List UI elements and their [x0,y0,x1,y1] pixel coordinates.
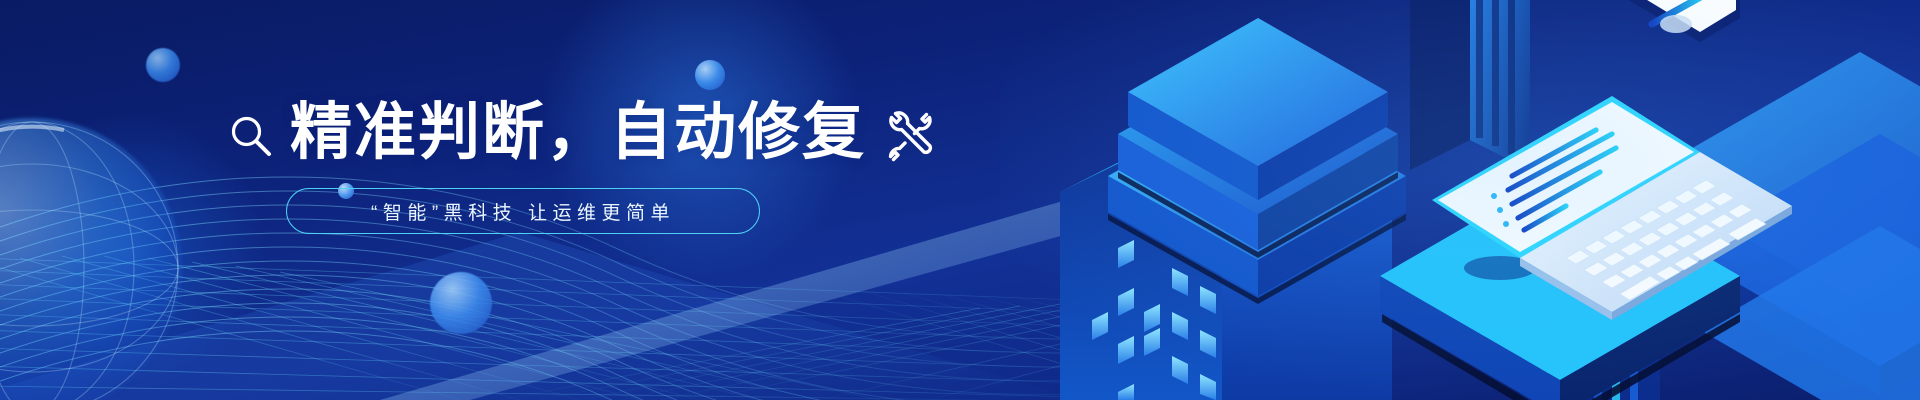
subtitle-pill: “智能”黑科技 让运维更简单 [286,188,760,234]
hero-banner: 精准判断，自动修复 “智能”黑科技 让运维更简单 [0,0,1920,400]
banner-copy: 精准判断，自动修复 “智能”黑科技 让运维更简单 [228,96,868,234]
globe-wireframe-rings [0,118,182,400]
headline-row: 精准判断，自动修复 [228,96,868,170]
subtitle-text: “智能”黑科技 让运维更简单 [371,198,675,225]
floating-orb [430,272,492,334]
headline-text: 精准判断，自动修复 [290,98,866,168]
floating-orb [146,48,180,82]
wrench-spanner-icon [882,106,938,162]
isometric-illustration [1000,0,1920,400]
floating-orb [695,60,725,90]
magnifier-icon [228,113,274,159]
